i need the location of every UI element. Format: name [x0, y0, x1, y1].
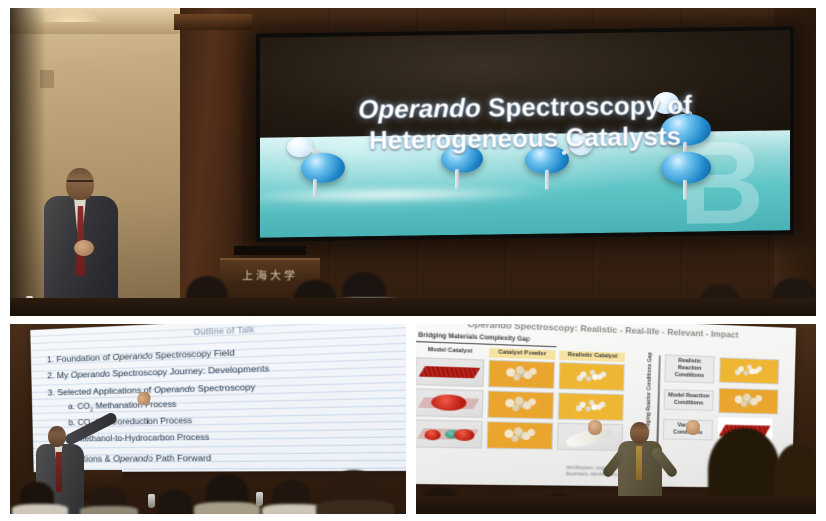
podium-monitor	[234, 246, 306, 255]
speaker-tie	[636, 446, 642, 480]
bottom-left-photo-panel: Outline of Talk 1. Foundation of Operand…	[10, 324, 406, 514]
front-table-edge	[10, 298, 816, 316]
audience-shoulders	[316, 500, 394, 514]
podium-sign: 上海大学	[220, 258, 320, 282]
front-table-edge	[416, 496, 816, 514]
grid-cell-realistic	[559, 362, 625, 391]
column-header-catalyst-powder: Catalyst Powder	[489, 348, 556, 360]
conditions-image-realistic	[719, 357, 779, 384]
speaker-figure	[38, 168, 124, 316]
photo-collage: B	[0, 0, 826, 521]
slide-title-line-2: Heterogeneous Catalysts	[369, 121, 681, 156]
audience-shoulders	[80, 506, 138, 514]
podium-sign-text: 上海大学	[220, 267, 320, 283]
speaker-left-hand	[588, 420, 602, 435]
label-model-reaction-conditions: Model Reaction Conditions	[664, 389, 714, 411]
ceiling-light-glow	[36, 8, 106, 22]
grid-cell-powder	[487, 390, 555, 419]
water-bottle	[256, 492, 263, 506]
column-header-realistic-catalyst: Realistic Catalyst	[560, 351, 625, 363]
column-header-model-catalyst: Model Catalyst	[416, 345, 484, 357]
speaker-right-hand	[686, 420, 700, 435]
audience-shoulders	[12, 504, 68, 514]
audience-shoulders	[262, 504, 324, 514]
conditions-row: Model Reaction Conditions	[664, 386, 779, 414]
slide-title-line-1: Operando Spectroscopy of	[358, 90, 692, 125]
projection-screen: B	[256, 26, 794, 242]
audience-head	[158, 490, 192, 514]
bottom-right-photo-panel: Operando Spectroscopy: Realistic - Real-…	[416, 324, 816, 514]
speaker-hand	[74, 240, 94, 256]
grid-cell-model-blob	[416, 388, 483, 418]
label-realistic-reaction-conditions: Realistic Reaction Conditions	[664, 354, 714, 383]
conditions-image-model	[718, 388, 778, 415]
grid-cell-model-multiblob	[416, 419, 482, 448]
glasses-icon	[67, 180, 93, 185]
grid-cell-powder	[488, 360, 556, 389]
conditions-row: Realistic Reaction Conditions	[664, 354, 779, 385]
grid-cell-powder	[486, 421, 554, 450]
water-bottle	[148, 494, 155, 508]
slide-text-block: Operando Spectroscopy of Heterogeneous C…	[260, 30, 790, 237]
speaker-tie	[56, 452, 62, 492]
grid-cell-model-lattice	[416, 357, 484, 387]
projected-slide: B	[260, 30, 790, 237]
wood-column-capital	[174, 14, 252, 30]
speaker-head	[48, 426, 66, 447]
top-photo-panel: B	[10, 8, 816, 316]
audience-shoulders	[194, 502, 260, 514]
grid-row	[416, 357, 625, 391]
speaker-head	[630, 422, 649, 444]
